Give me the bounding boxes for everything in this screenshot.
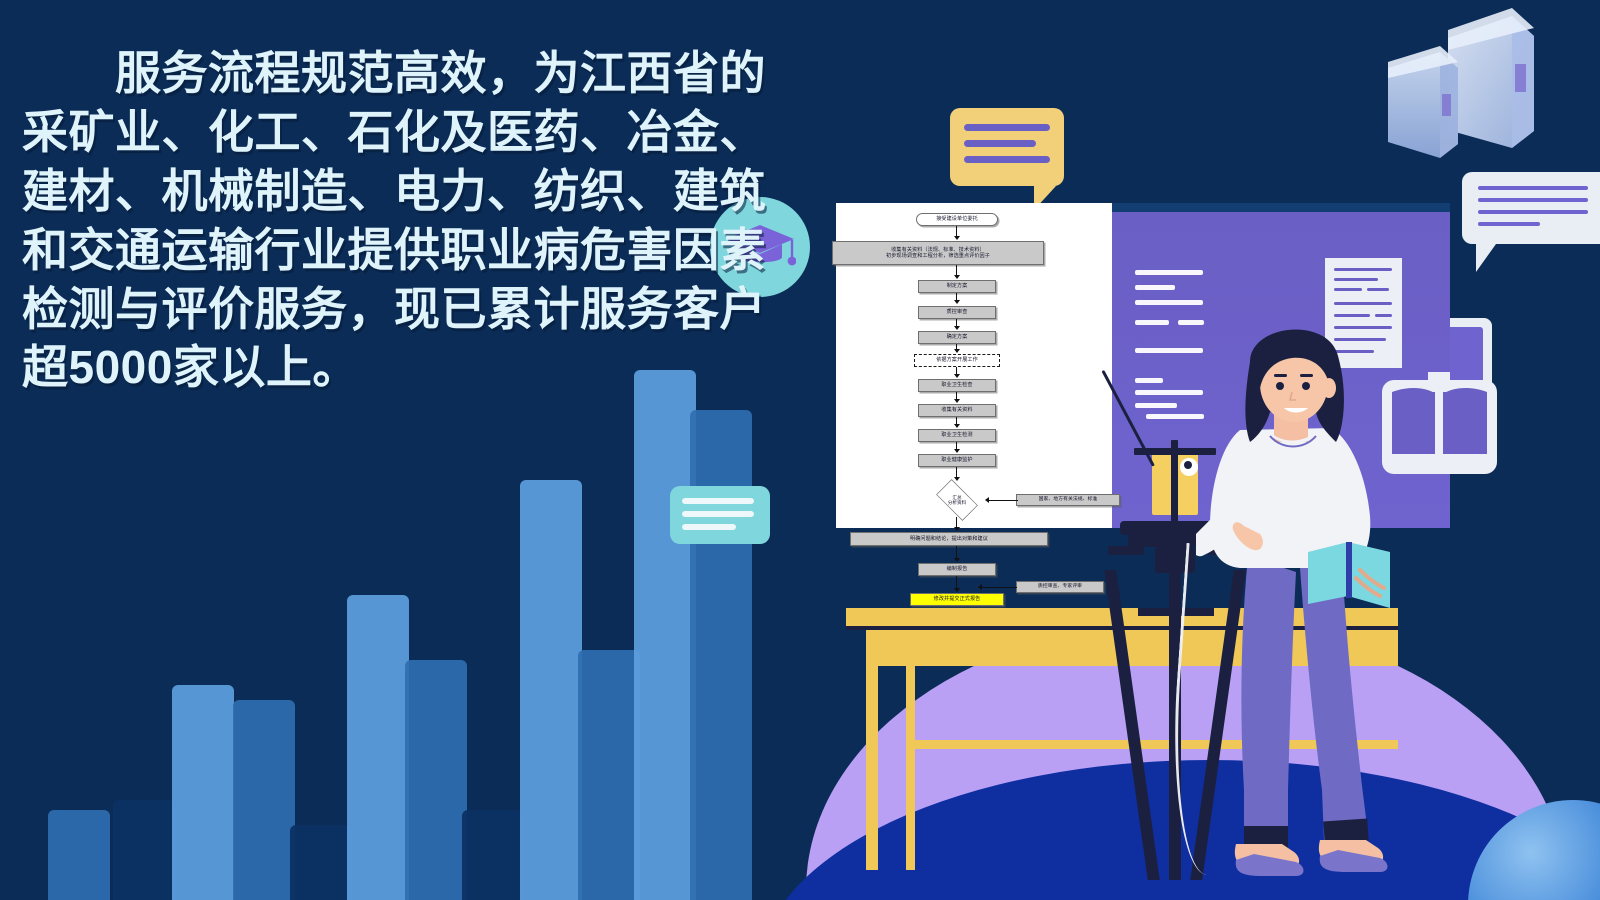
poster-canvas: 服务流程规范高效，为江西省的采矿业、化工、石化及医药、冶金、建材、机械制造、电力… [0,0,1600,900]
tripod-post [1171,440,1178,530]
background-bar [172,685,234,900]
flow-node-n1: 接受建设单位委托 [916,213,998,226]
flow-node-n11: 汇总 分析资料 [928,483,986,517]
flow-node-n14: 修改并提交正式报告 [910,593,1004,606]
background-bar [578,650,640,900]
flow-node-n3: 制定方案 [918,280,996,293]
flow-side-node-s2: 质控审查、专家评审 [1016,581,1104,593]
background-bar [690,410,752,900]
flow-node-n11-label: 汇总 分析资料 [928,483,986,517]
background-bar [113,800,175,900]
background-bar [48,810,110,900]
background-bar [462,810,524,900]
background-bar [634,370,696,900]
background-bar [520,480,582,900]
flow-node-n8: 收集有关资料 [918,404,996,417]
flow-node-n13: 编制报告 [918,563,996,576]
flow-node-n6: 依据方案开展工作 [914,354,1000,367]
flow-node-n5: 确定方案 [918,331,996,344]
speech-bubble-icon [950,108,1064,186]
flow-node-n4: 质控审查 [918,306,996,319]
flow-node-n7: 职业卫生检查 [918,379,996,392]
flow-node-n9: 职业卫生检测 [918,429,996,442]
desk-leg-left [866,630,878,870]
teacher-presenter [1196,320,1406,880]
background-bar [290,825,352,900]
tripod-arm-left [1108,546,1144,555]
flow-node-n12-box: 明确问题和结论，提出对策和建议 [850,532,1048,546]
background-bar [405,660,467,900]
whiteboard-top-frame [1112,203,1450,212]
flow-side-node-s1: 国家、地方有关法规、标准 [1016,494,1120,506]
chat-card-icon [670,486,770,544]
flow-node-n10: 职业健康监护 [918,454,996,467]
flow-node-n2: 收集有关资料（法规、标准、技术资料） 初步现场调查和工程分析，筛选重点评价因子 [832,241,1044,265]
background-bar [233,700,295,900]
speech-bubble-icon [1462,172,1600,244]
desk-leg-left-inner [906,666,915,870]
books-icon [1382,6,1582,186]
flowchart: 接受建设单位委托 收集有关资料（法规、标准、技术资料） 初步现场调查和工程分析，… [836,203,1114,528]
background-bar [347,595,409,900]
page-title: 服务流程规范高效，为江西省的采矿业、化工、石化及医药、冶金、建材、机械制造、电力… [22,44,782,397]
